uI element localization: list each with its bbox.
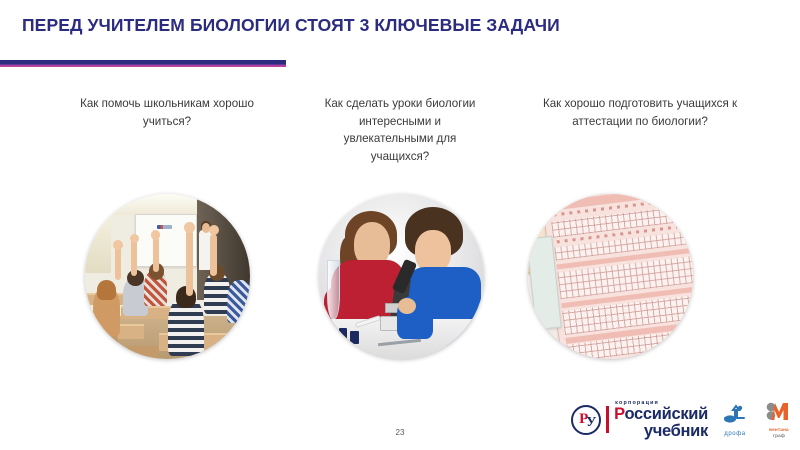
title-underline-rule	[0, 60, 286, 67]
logo-wordmark: корпорация Российский учебник	[614, 401, 708, 440]
task-caption-1: Как помочь школьникам хорошо учиться?	[47, 95, 287, 130]
task-caption-2: Как сделать уроки биологии интересными и…	[280, 95, 520, 165]
drofa-logo: дрофа	[718, 404, 752, 437]
logo-divider-bar	[606, 406, 609, 433]
task-column-3: Как хорошо подготовить учащихся к аттест…	[520, 95, 760, 130]
footer-logo-group: Р У корпорация Российский учебник дрофа	[571, 396, 796, 444]
task-column-1: Как помочь школьникам хорошо учиться?	[47, 95, 287, 130]
ventana-graf-logo: вентана граф	[762, 401, 796, 438]
ventana-graf-label: вентана граф	[762, 427, 796, 438]
logo-word-uchebnik: учебник	[614, 423, 708, 440]
rossiyskiy-uchebnik-logo: Р У корпорация Российский учебник	[571, 401, 708, 440]
monogram-letter-u: У	[586, 416, 596, 430]
classroom-raised-hands-photo	[85, 194, 250, 359]
exam-answer-sheets-photo	[528, 194, 693, 359]
logo-word-initial: Р	[614, 405, 624, 423]
logo-word-rest: оссийский	[624, 405, 708, 423]
ru-monogram-icon: Р У	[571, 405, 601, 435]
drofa-bird-icon	[722, 404, 748, 425]
task-caption-3: Как хорошо подготовить учащихся к аттест…	[520, 95, 760, 130]
drofa-label: дрофа	[718, 431, 752, 437]
logo-word-rossiyskiy: Российский	[614, 407, 708, 423]
ventana-graf-butterfly-icon	[766, 401, 792, 422]
students-microscope-photo	[319, 194, 484, 359]
slide-root: ПЕРЕД УЧИТЕЛЕМ БИОЛОГИИ СТОЯТ 3 КЛЮЧЕВЫЕ…	[0, 0, 800, 450]
ventana-graf-label-line2: граф	[762, 433, 796, 439]
task-column-2: Как сделать уроки биологии интересными и…	[280, 95, 520, 165]
page-title: ПЕРЕД УЧИТЕЛЕМ БИОЛОГИИ СТОЯТ 3 КЛЮЧЕВЫЕ…	[22, 15, 762, 36]
